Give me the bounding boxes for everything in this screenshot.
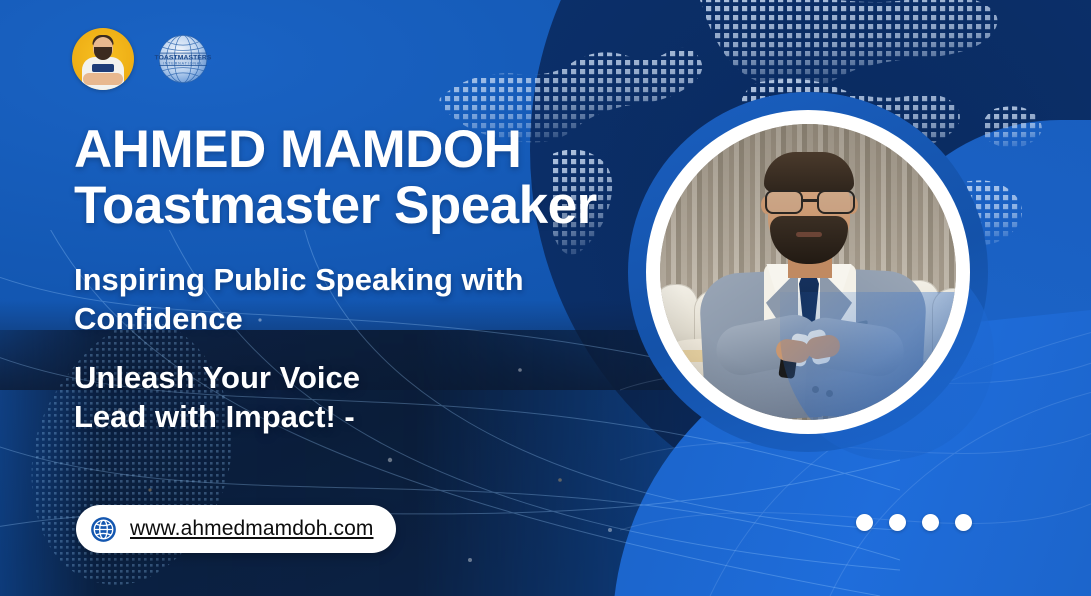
dot-4[interactable] bbox=[955, 514, 972, 531]
logo-row: TOASTMASTERS INTERNATIONAL bbox=[72, 26, 216, 92]
speaker-portrait bbox=[628, 92, 988, 452]
tagline: Unleash Your Voice Lead with Impact! - bbox=[74, 358, 594, 437]
ahmed-mamdoh-avatar-logo[interactable] bbox=[72, 28, 134, 90]
subtitle: Inspiring Public Speaking with Confidenc… bbox=[74, 261, 634, 339]
speaker-role: Toastmaster Speaker bbox=[74, 178, 597, 234]
dots-indicator bbox=[856, 514, 972, 531]
speaker-promo-banner: TOASTMASTERS INTERNATIONAL bbox=[0, 0, 1091, 596]
website-url-pill[interactable]: www.ahmedmamdoh.com bbox=[76, 505, 396, 553]
dot-1[interactable] bbox=[856, 514, 873, 531]
dot-3[interactable] bbox=[922, 514, 939, 531]
globe-icon bbox=[90, 516, 117, 543]
toastmasters-wordmark: TOASTMASTERS bbox=[154, 54, 211, 61]
international-wordmark: INTERNATIONAL bbox=[163, 62, 203, 66]
subtitle-line-1: Inspiring Public Speaking with bbox=[74, 261, 634, 300]
portrait-photo bbox=[660, 124, 956, 420]
photo-vignette bbox=[660, 124, 956, 420]
speaker-name: AHMED MAMDOH bbox=[74, 122, 597, 178]
tagline-line-2: Lead with Impact! - bbox=[74, 397, 594, 436]
avatar-shirt-print bbox=[92, 64, 114, 72]
tagline-line-1: Unleash Your Voice bbox=[74, 358, 594, 397]
avatar-arms bbox=[83, 73, 123, 85]
subtitle-line-2: Confidence bbox=[74, 300, 634, 339]
toastmasters-international-logo[interactable]: TOASTMASTERS INTERNATIONAL bbox=[150, 26, 216, 92]
dot-2[interactable] bbox=[889, 514, 906, 531]
page-title: AHMED MAMDOH Toastmaster Speaker bbox=[74, 122, 597, 234]
website-url-text[interactable]: www.ahmedmamdoh.com bbox=[130, 517, 374, 541]
